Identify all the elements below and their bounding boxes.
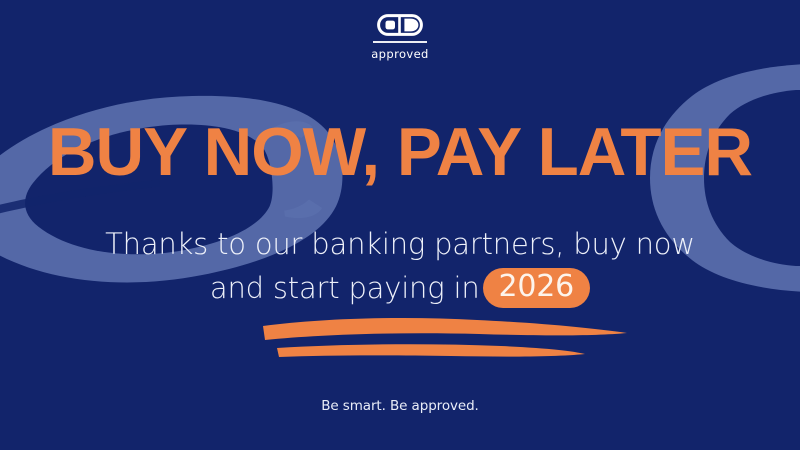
marker-scribble-underline bbox=[255, 306, 635, 364]
subheading: Thanks to our banking partners, buy now … bbox=[0, 222, 800, 310]
brand-name: approved bbox=[371, 49, 429, 61]
subheading-line-2-text: and start paying in bbox=[210, 266, 480, 310]
year-highlight-badge: 2026 bbox=[483, 268, 591, 309]
car-top-view-icon bbox=[377, 14, 423, 36]
subheading-line-2: and start paying in 2026 bbox=[0, 266, 800, 310]
page-title: BUY NOW, PAY LATER bbox=[4, 118, 796, 186]
brand-lockup: approved bbox=[0, 14, 800, 61]
subheading-line-1: Thanks to our banking partners, buy now bbox=[0, 222, 800, 266]
brand-divider bbox=[373, 41, 427, 43]
tagline: Be smart. Be approved. bbox=[0, 398, 800, 414]
promo-banner: approved BUY NOW, PAY LATER Thanks to ou… bbox=[0, 0, 800, 450]
